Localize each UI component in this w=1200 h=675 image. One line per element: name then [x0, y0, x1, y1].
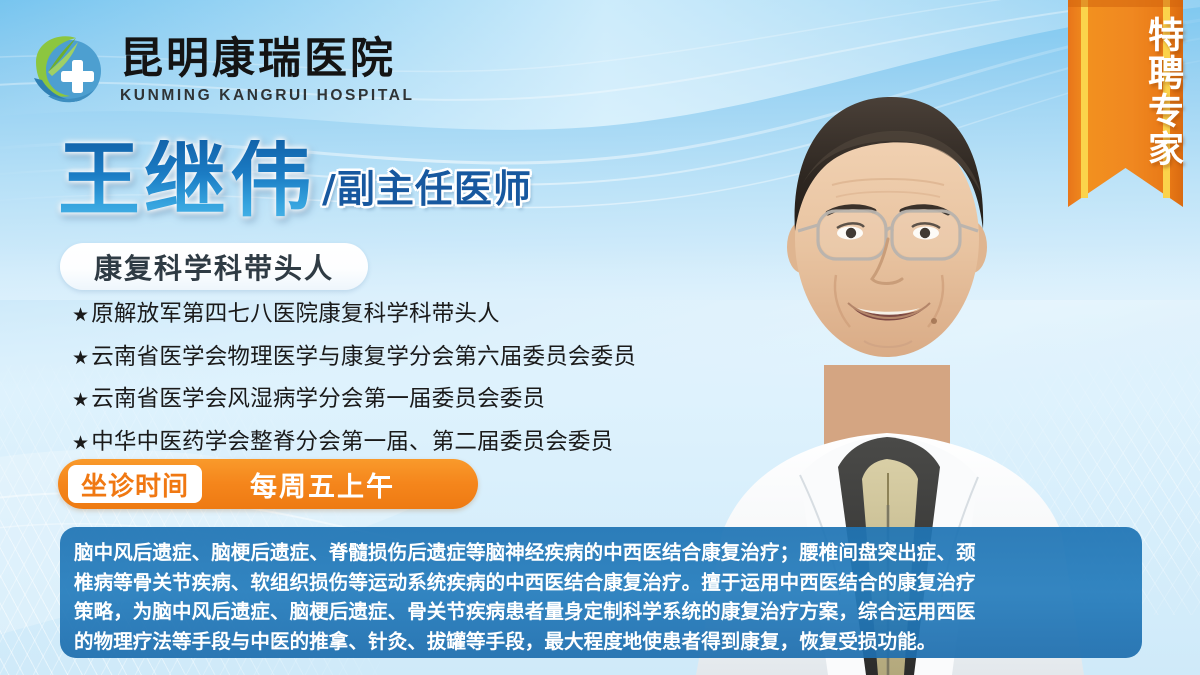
- description-line: 椎病等骨关节疾病、软组织损伤等运动系统疾病的中西医结合康复治疗。擅于运用中西医结…: [74, 568, 1128, 598]
- specialty-description-panel: 脑中风后遗症、脑梗后遗症、脊髓损伤后遗症等脑神经疾病的中西医结合康复治疗；腰椎间…: [60, 527, 1142, 658]
- doctor-profile-banner: 昆明康瑞医院 KUNMING KANGRUI HOSPITAL 王继伟 /副主任…: [0, 0, 1200, 675]
- hospital-logo-block: 昆明康瑞医院 KUNMING KANGRUI HOSPITAL: [22, 26, 415, 112]
- doctor-name: 王继伟: [58, 140, 316, 222]
- consultation-time-value: 每周五上午: [250, 465, 395, 504]
- star-icon: ★: [72, 432, 89, 454]
- star-icon: ★: [72, 347, 89, 369]
- description-line: 的物理疗法等手段与中医的推拿、针灸、拔罐等手段，最大程度地使患者得到康复，恢复受…: [74, 627, 1128, 657]
- consultation-time-label-badge: 坐诊时间: [68, 465, 202, 503]
- expert-ribbon-label: 特聘专家: [1068, 16, 1183, 168]
- doctor-name-row: 王继伟 /副主任医师: [58, 140, 532, 222]
- leaf-circle-cross-logo-icon: [22, 26, 108, 112]
- description-line: 策略，为脑中风后遗症、脑梗后遗症、骨关节疾病患者量身定制科学系统的康复治疗方案，…: [74, 597, 1128, 627]
- hospital-name-text: 昆明康瑞医院 KUNMING KANGRUI HOSPITAL: [120, 33, 415, 105]
- credential-text: 云南省医学会物理医学与康复学分会第六届委员会委员: [91, 344, 636, 370]
- doctor-subtitle-text: 康复科学科带头人: [94, 247, 334, 287]
- list-item: ★云南省医学会风湿病学分会第一届委员会委员: [72, 388, 692, 411]
- hospital-name-cn: 昆明康瑞医院: [120, 37, 415, 82]
- credential-text: 原解放军第四七八医院康复科学科带头人: [91, 301, 500, 327]
- hospital-name-en: KUNMING KANGRUI HOSPITAL: [120, 87, 415, 105]
- credential-text: 云南省医学会风湿病学分会第一届委员会委员: [91, 386, 545, 412]
- list-item: ★中华中医药学会整脊分会第一届、第二届委员会委员: [72, 431, 692, 454]
- list-item: ★云南省医学会物理医学与康复学分会第六届委员会委员: [72, 346, 692, 369]
- doctor-subtitle-pill: 康复科学科带头人: [60, 243, 368, 290]
- doctor-title: /副主任医师: [322, 158, 532, 213]
- list-item: ★原解放军第四七八医院康复科学科带头人: [72, 303, 692, 326]
- credential-text: 中华中医药学会整脊分会第一届、第二届委员会委员: [91, 429, 613, 455]
- consultation-time-bar: 坐诊时间 每周五上午: [58, 459, 478, 509]
- consultation-time-label: 坐诊时间: [81, 466, 189, 503]
- credentials-list: ★原解放军第四七八医院康复科学科带头人 ★云南省医学会物理医学与康复学分会第六届…: [72, 303, 692, 473]
- expert-ribbon-badge: 特聘专家: [1068, 0, 1183, 207]
- description-line: 脑中风后遗症、脑梗后遗症、脊髓损伤后遗症等脑神经疾病的中西医结合康复治疗；腰椎间…: [74, 538, 1128, 568]
- star-icon: ★: [72, 304, 89, 326]
- star-icon: ★: [72, 389, 89, 411]
